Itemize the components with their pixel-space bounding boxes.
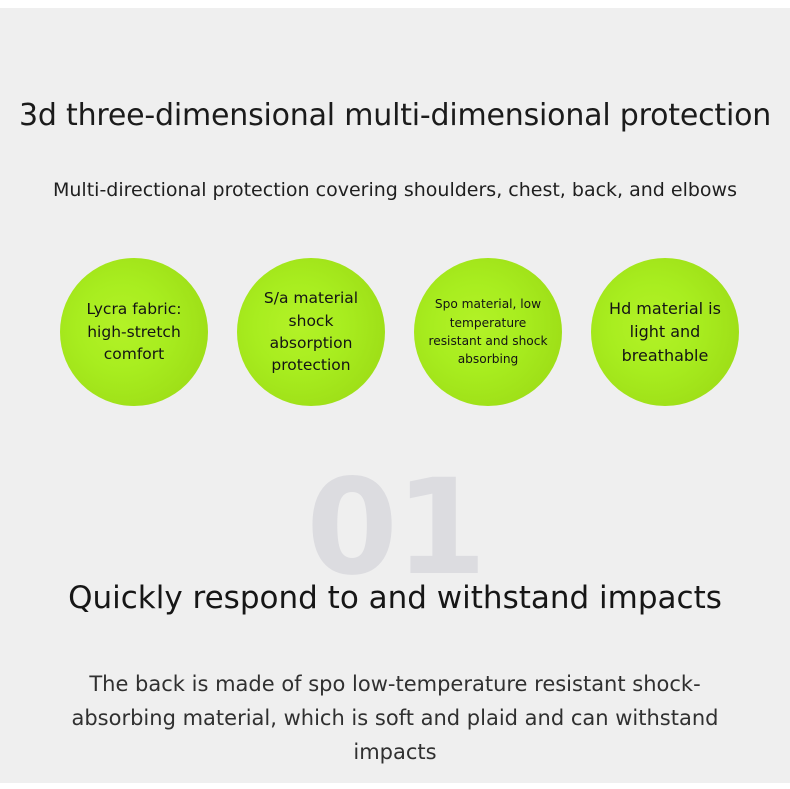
features-headline: 3d three-dimensional multi-dimensional p… [0, 98, 790, 134]
feature-circle-label: Hd material is light and breathable [601, 297, 729, 367]
feature-circle-hd-material: Hd material is light and breathable [591, 258, 739, 406]
feature-circle-label: Lycra fabric: high-stretch comfort [70, 298, 198, 365]
feature-circle-label: Spo material, low temperature resistant … [424, 295, 552, 368]
feature-circle-row: Lycra fabric: high-stretch comfort S/a m… [0, 258, 790, 408]
impact-section-title: Quickly respond to and withstand impacts [0, 580, 790, 617]
feature-circle-spo-material: Spo material, low temperature resistant … [414, 258, 562, 406]
feature-circle-lycra: Lycra fabric: high-stretch comfort [60, 258, 208, 406]
section-number-watermark: 01 [0, 462, 790, 594]
feature-circle-label: S/a material shock absorption protection [247, 287, 375, 377]
impact-section-body: The back is made of spo low-temperature … [50, 667, 740, 769]
product-feature-page: 3d three-dimensional multi-dimensional p… [0, 0, 790, 789]
feature-circle-sa-material: S/a material shock absorption protection [237, 258, 385, 406]
features-subheadline: Multi-directional protection covering sh… [0, 178, 790, 203]
